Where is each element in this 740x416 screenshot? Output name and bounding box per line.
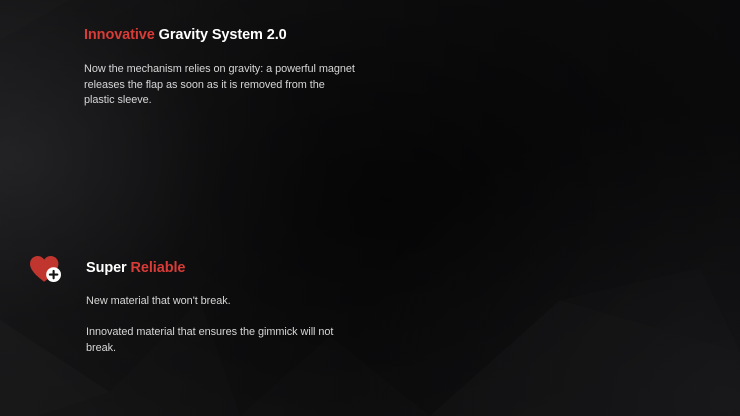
feature-heading: Innovative Gravity System 2.0 <box>84 28 287 43</box>
feature-item-all-included: All included The kit includes: a marker,… <box>408 118 740 244</box>
feature-paragraph: Now the mechanism relies on gravity: a p… <box>84 62 356 109</box>
features-grid: Innovative Gravity System 2.0 Now the me… <box>0 0 740 416</box>
grid-cell-r2c2: All included The kit includes: a marker,… <box>408 118 740 244</box>
grid-cell-r2c1: Super Reliable New material that won't b… <box>0 118 408 244</box>
feature-item-dry-erase: Dry-Erase Ability Markers leave no trace… <box>0 244 408 416</box>
grid-cell-r1c2: Convenient to carry Fits into any bag - … <box>408 0 740 118</box>
feature-item-convenient: Convenient to carry Fits into any bag - … <box>408 0 740 118</box>
feature-item-super-reliable: Super Reliable New material that won't b… <box>0 118 408 244</box>
grid-cell-r1c1: Innovative Gravity System 2.0 Now the me… <box>0 0 408 118</box>
feature-heading-accent: Innovative <box>84 27 155 43</box>
feature-heading-plain: Gravity System 2.0 <box>155 27 287 43</box>
grid-cell-r3c1: Dry-Erase Ability Markers leave no trace… <box>0 244 408 416</box>
feature-item-any-age: Any age group Easy to use. Even a child … <box>408 244 740 416</box>
feature-slide: Innovative Gravity System 2.0 Now the me… <box>0 0 740 416</box>
feature-item-innovative: Innovative Gravity System 2.0 Now the me… <box>0 0 408 118</box>
grid-cell-r3c2: Any age group Easy to use. Even a child … <box>408 244 740 416</box>
